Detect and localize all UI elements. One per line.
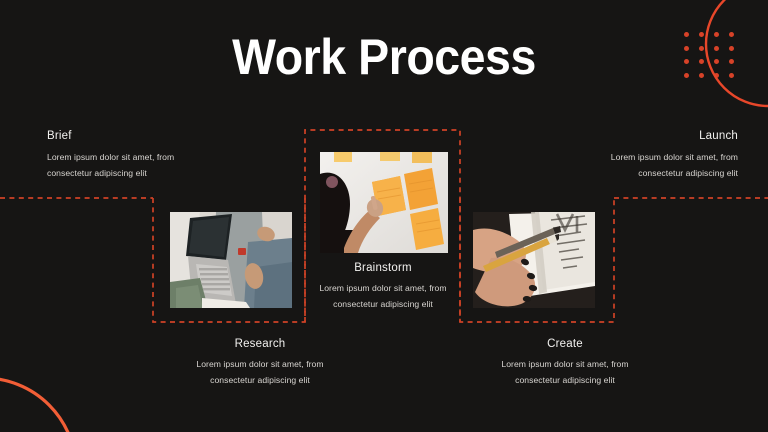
step-body-line2-create: consectetur adipiscing elit [455,373,675,389]
step-label-research: Research [150,338,370,350]
step-label-launch: Launch [518,130,738,142]
step-body-line2-brainstorm: consectetur adipiscing elit [305,297,461,313]
step-body-line2-launch: consectetur adipiscing elit [518,166,738,182]
step-label-brainstorm: Brainstorm [305,262,461,274]
step-research[interactable]: Research Lorem ipsum dolor sit amet, fro… [150,338,370,389]
step-label-brief: Brief [47,130,267,142]
step-body-line1-research: Lorem ipsum dolor sit amet, from [150,357,370,373]
step-launch[interactable]: Launch Lorem ipsum dolor sit amet, from … [518,130,738,182]
research-photo-illustration [170,212,292,308]
page-title: Work Process [27,31,741,84]
step-body-line1-launch: Lorem ipsum dolor sit amet, from [518,150,738,166]
create-photo-illustration [473,212,595,308]
step-body-line1-brainstorm: Lorem ipsum dolor sit amet, from [305,281,461,297]
photo-create [473,212,595,308]
step-body-line2-research: consectetur adipiscing elit [150,373,370,389]
photo-brainstorm [320,152,448,253]
step-brief[interactable]: Brief Lorem ipsum dolor sit amet, from c… [47,130,267,182]
step-brainstorm[interactable]: Brainstorm Lorem ipsum dolor sit amet, f… [305,262,461,313]
step-body-line1-brief: Lorem ipsum dolor sit amet, from [47,150,267,166]
step-body-line1-create: Lorem ipsum dolor sit amet, from [455,357,675,373]
brainstorm-photo-illustration [320,152,448,253]
step-create[interactable]: Create Lorem ipsum dolor sit amet, from … [455,338,675,389]
step-body-line2-brief: consectetur adipiscing elit [47,166,267,182]
step-label-create: Create [455,338,675,350]
photo-research [170,212,292,308]
